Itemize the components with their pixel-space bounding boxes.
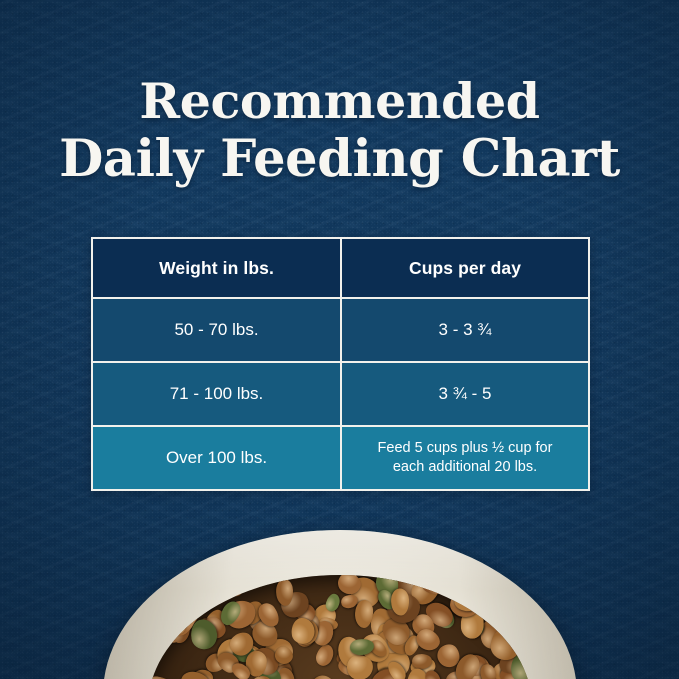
bowl [103,530,577,679]
feeding-chart-table: Weight in lbs. Cups per day 50 - 70 lbs.… [91,237,590,491]
kibble-piece [307,671,344,679]
table-row: 50 - 70 lbs. 3 - 3 ¾ [92,298,589,362]
feeding-chart-poster: Recommended Daily Feeding Chart Weight i… [0,0,679,679]
cell-weight: 50 - 70 lbs. [92,298,341,362]
cell-cups-line-2: each additional 20 lbs. [350,458,580,477]
page-title: Recommended Daily Feeding Chart [0,72,679,188]
cell-cups: Feed 5 cups plus ½ cup for each addition… [341,426,589,490]
kibble-piece [391,588,410,615]
table-row: 71 - 100 lbs. 3 ¾ - 5 [92,362,589,426]
column-header-cups: Cups per day [341,238,589,298]
table-header-row: Weight in lbs. Cups per day [92,238,589,298]
cell-cups: 3 ¾ - 5 [341,362,589,426]
page-title-line-2: Daily Feeding Chart [0,130,679,188]
page-title-line-1: Recommended [0,72,679,130]
cell-cups: 3 - 3 ¾ [341,298,589,362]
dog-food-bowl-photo [0,508,679,679]
cell-weight: Over 100 lbs. [92,426,341,490]
table-row: Over 100 lbs. Feed 5 cups plus ½ cup for… [92,426,589,490]
kibble-piece [313,642,337,669]
kibble-field [148,575,533,679]
cell-cups-line-1: Feed 5 cups plus ½ cup for [350,439,580,458]
cell-weight: 71 - 100 lbs. [92,362,341,426]
column-header-weight: Weight in lbs. [92,238,341,298]
